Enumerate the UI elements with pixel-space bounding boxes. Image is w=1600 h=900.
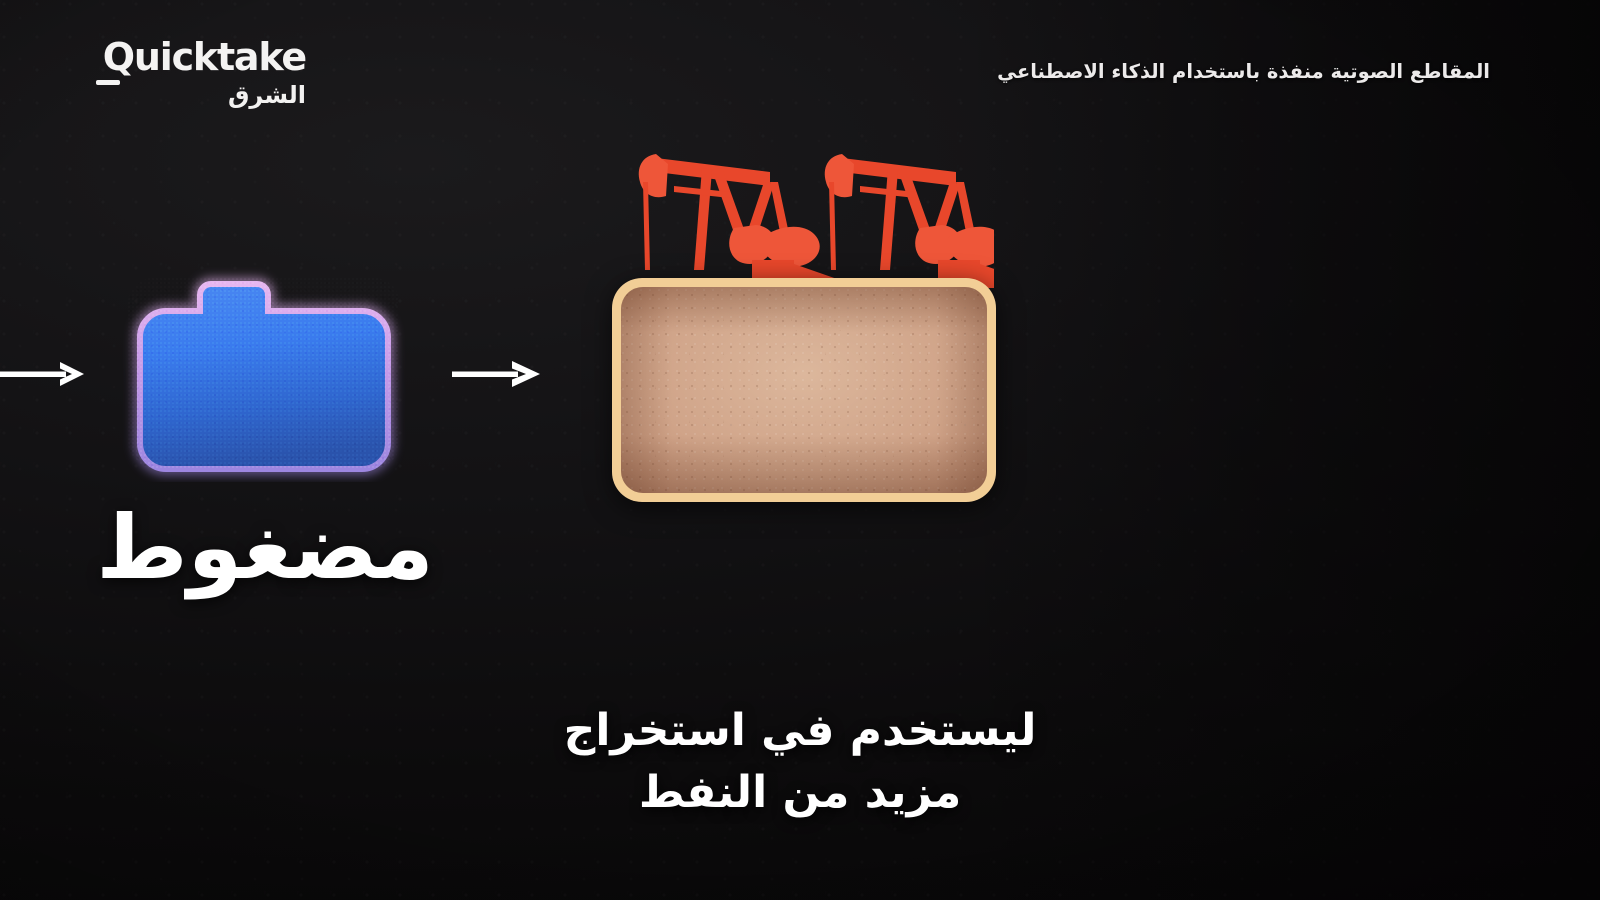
ai-disclaimer-text: المقاطع الصوتية منفذة باستخدام الذكاء ال… bbox=[997, 60, 1490, 83]
caption-block: ليستخدم في استخراج مزيد من النفط bbox=[0, 700, 1600, 825]
video-frame: Quicktake الشرق المقاطع الصوتية منفذة با… bbox=[0, 0, 1600, 900]
caption-line-2: مزيد من النفط bbox=[0, 762, 1600, 824]
slab-surface bbox=[621, 287, 987, 493]
logo-wordmark: Quicktake bbox=[86, 38, 306, 76]
arrow-inflow-icon bbox=[0, 352, 92, 396]
pressurized-gas-tank-icon bbox=[128, 278, 400, 468]
caption-line-1: ليستخدم في استخراج bbox=[0, 700, 1600, 762]
pumpjack-pair bbox=[634, 142, 994, 292]
quicktake-asharq-logo: Quicktake الشرق bbox=[86, 38, 306, 107]
q-tail-underscore-icon bbox=[96, 80, 120, 85]
oil-reservoir-group bbox=[604, 142, 1004, 507]
logo-arabic-wordmark: الشرق bbox=[86, 83, 306, 107]
arrow-to-reservoir-icon bbox=[452, 352, 544, 396]
sandstone-reservoir-slab-icon bbox=[612, 278, 996, 502]
slab-shading bbox=[621, 287, 987, 493]
tank-label-compressed: مضغوط bbox=[80, 502, 450, 594]
